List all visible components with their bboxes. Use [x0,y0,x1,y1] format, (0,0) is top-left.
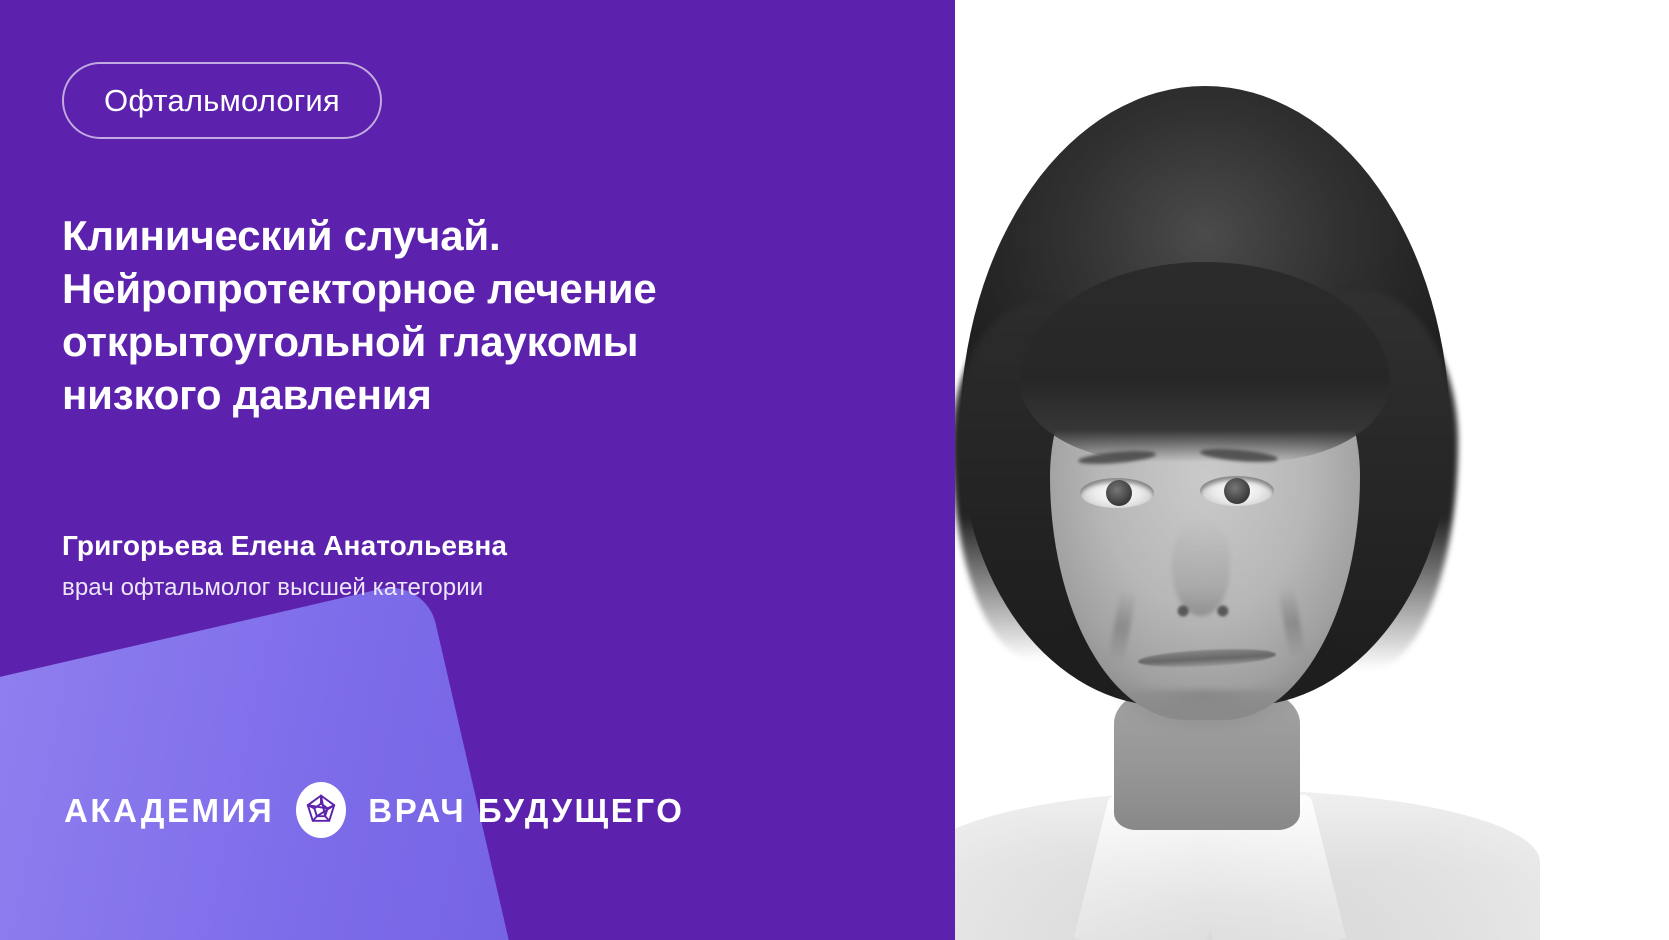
photo-iris-right [1224,478,1250,504]
brand-word-future-doctor: ВРАЧ БУДУЩЕГО [368,794,684,827]
presentation-slide: Офтальмология Клинический случай. Нейроп… [0,0,1669,940]
content-card: Офтальмология Клинический случай. Нейроп… [0,0,955,940]
photo-iris-left [1106,480,1132,506]
photo-nostrils [1172,604,1234,618]
speaker-name: Григорьева Елена Анатольевна [62,528,862,563]
speaker-photo [900,0,1669,940]
speaker-photo-canvas [900,0,1669,940]
polyhedron-gem-icon [296,782,346,838]
speaker-role: врач офтальмолог высшей категории [62,572,862,603]
slide-title: Клинический случай. Нейропротекторное ле… [62,210,862,422]
card-content: Офтальмология Клинический случай. Нейроп… [0,0,909,940]
brand-word-academy: АКАДЕМИЯ [64,794,274,827]
photo-nose [1172,520,1230,616]
specialty-badge[interactable]: Офтальмология [62,62,382,139]
brand-logo: АКАДЕМИЯ [64,782,684,838]
specialty-badge-label: Офтальмология [104,85,340,116]
photo-chin-shadow [1110,690,1300,734]
speaker-block: Григорьева Елена Анатольевна врач офталь… [62,528,862,603]
